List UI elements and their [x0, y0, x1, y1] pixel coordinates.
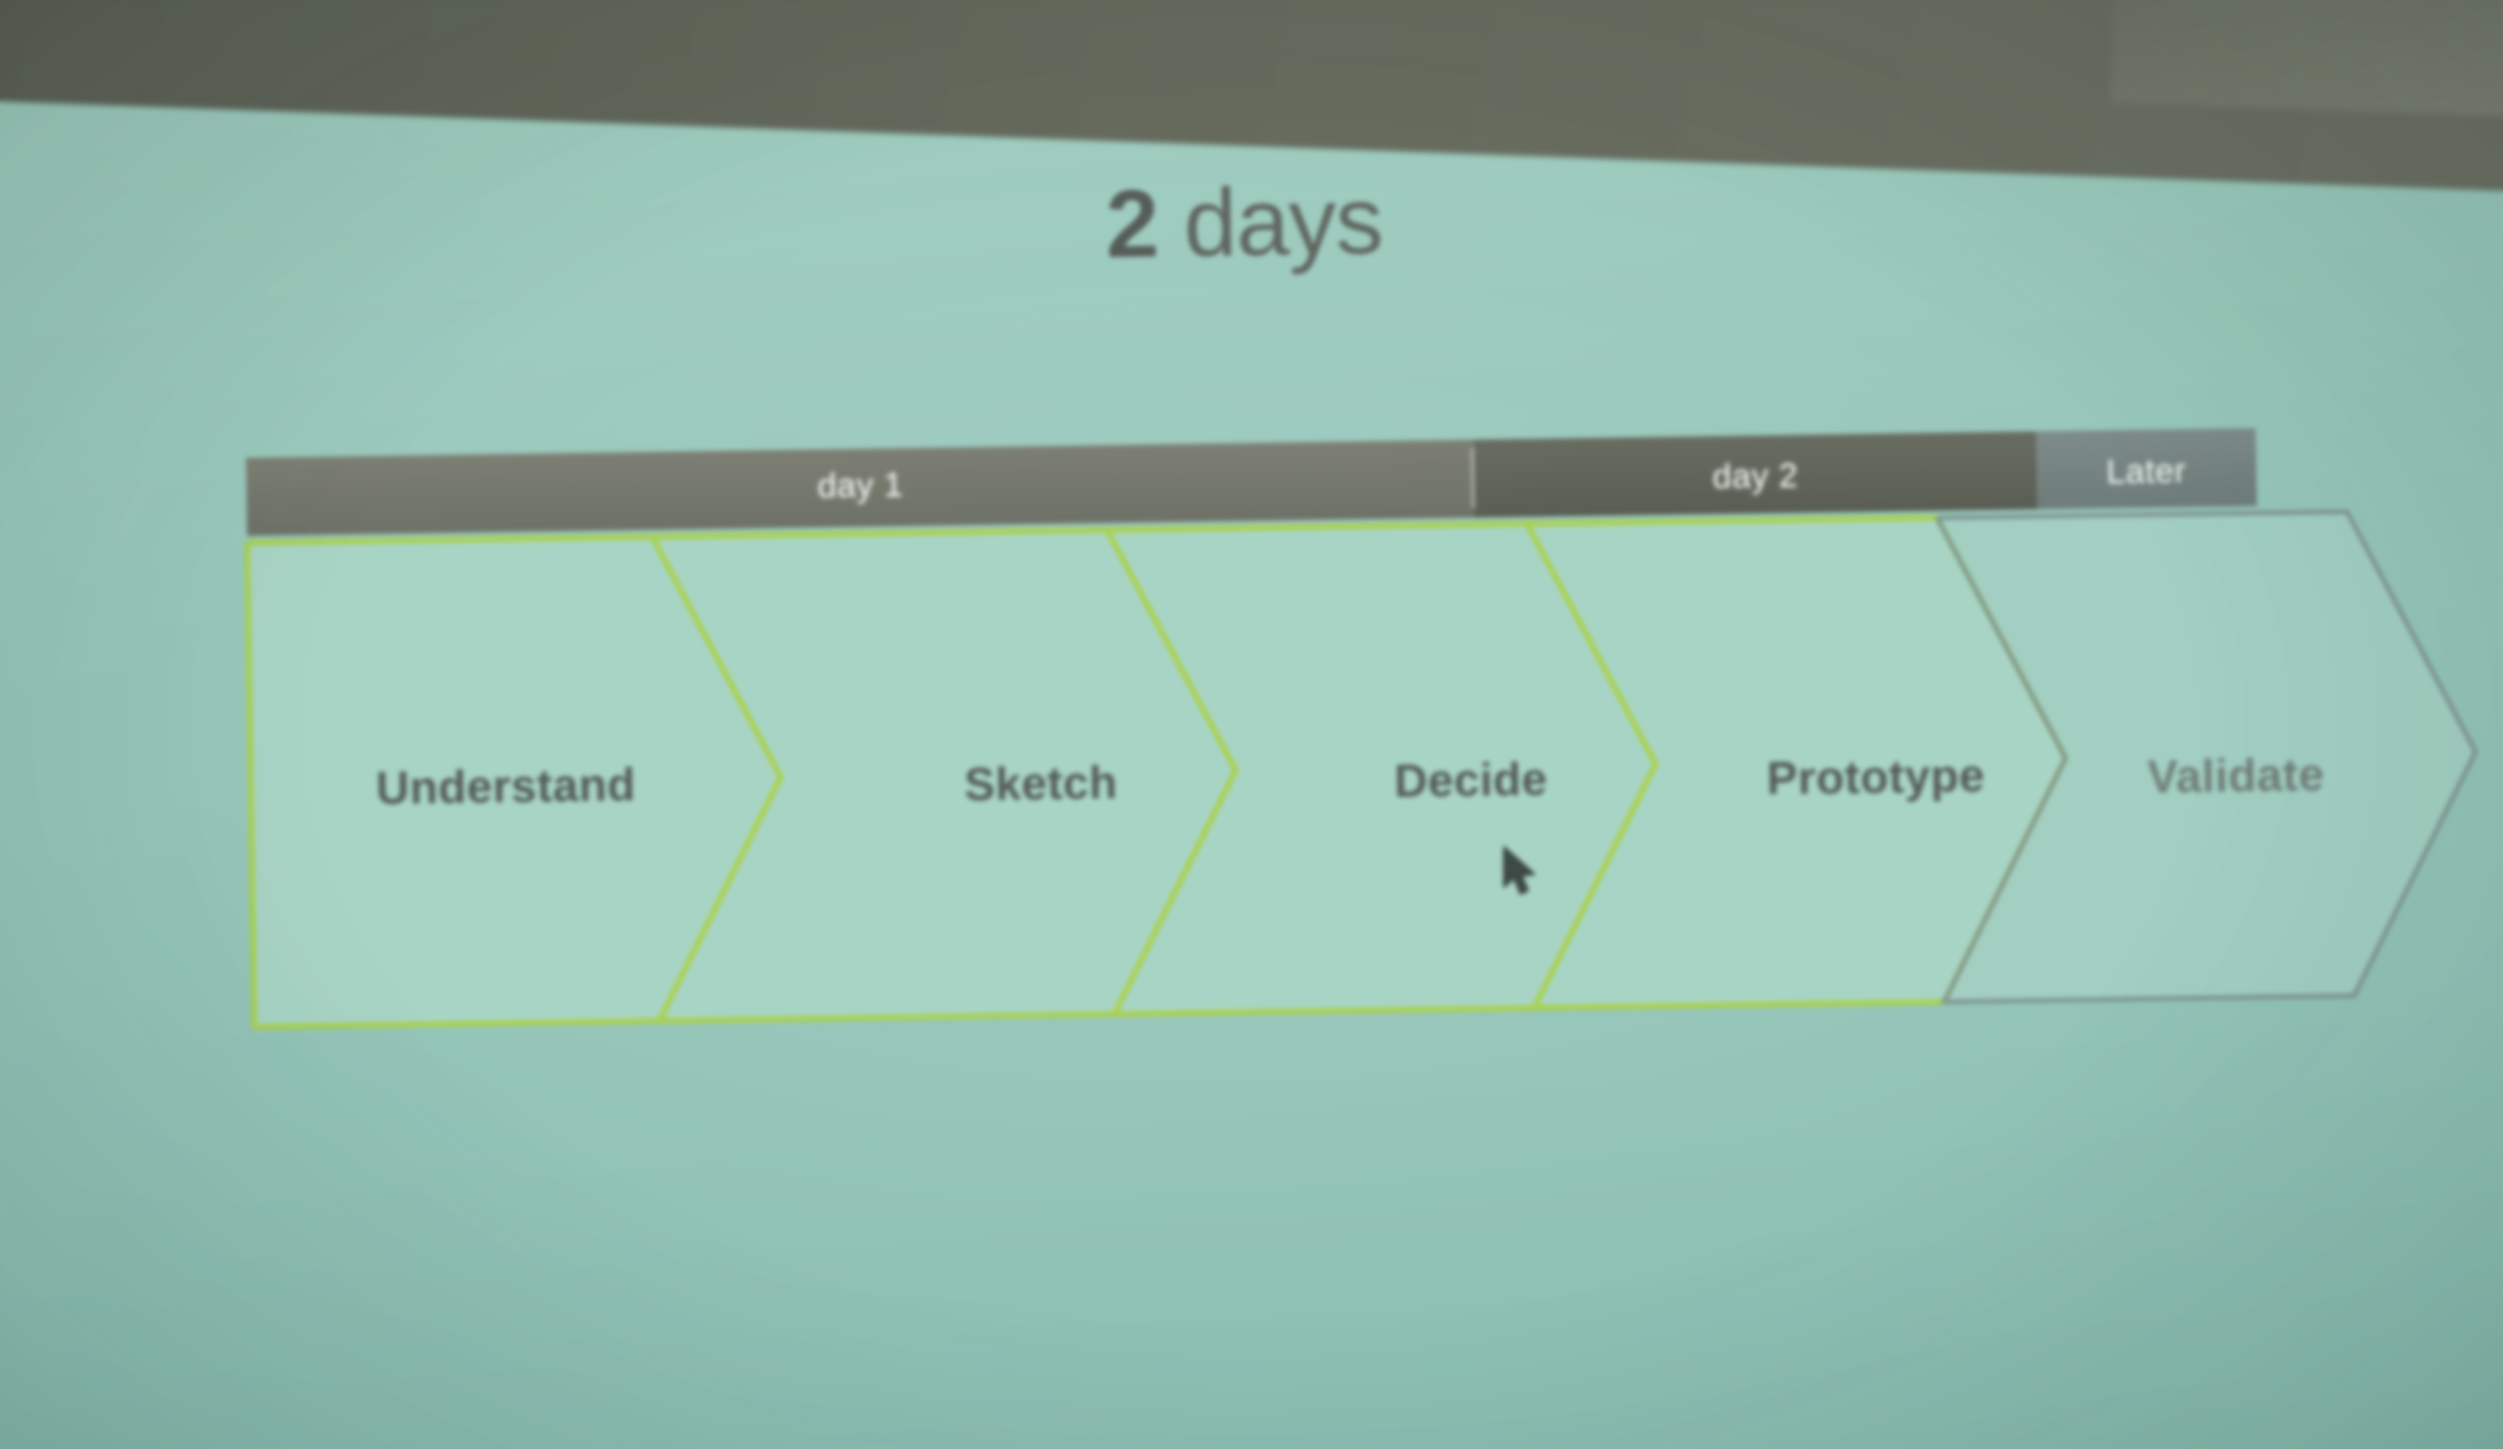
- title-number: 2: [1105, 170, 1159, 278]
- phase-label-validate[interactable]: Validate: [2147, 747, 2325, 804]
- chevron-fill-sketch: [652, 528, 1239, 1021]
- slide-photo: 2 days day 1 day 2 Later: [0, 0, 2503, 1449]
- slide-content: 2 days day 1 day 2 Later: [0, 0, 2503, 1449]
- phase-label-decide[interactable]: Decide: [1394, 752, 1548, 808]
- page-title: 2 days: [0, 156, 2496, 289]
- day-bar-segment-day1[interactable]: day 1: [246, 440, 1475, 536]
- phase-label-prototype[interactable]: Prototype: [1766, 748, 1985, 805]
- mouse-pointer-icon: [1502, 845, 1542, 901]
- chevron-fill-decide: [1107, 522, 1659, 1014]
- day-bar-segment-later[interactable]: Later: [2036, 428, 2257, 509]
- day-bar-segment-day2[interactable]: day 2: [1474, 431, 2037, 517]
- day-bar-label-day2: day 2: [1712, 456, 1798, 496]
- phase-label-understand[interactable]: Understand: [376, 757, 636, 815]
- day-bar-label-day1: day 1: [817, 466, 903, 506]
- title-word: days: [1183, 167, 1383, 277]
- day-bar-label-later: Later: [2106, 452, 2187, 492]
- timeline-day-bar: day 1 day 2 Later: [246, 428, 2257, 536]
- phase-label-sketch[interactable]: Sketch: [964, 755, 1118, 811]
- chevron-outline-sketch: [652, 528, 1239, 1021]
- chevron-outline-decide: [1107, 522, 1659, 1014]
